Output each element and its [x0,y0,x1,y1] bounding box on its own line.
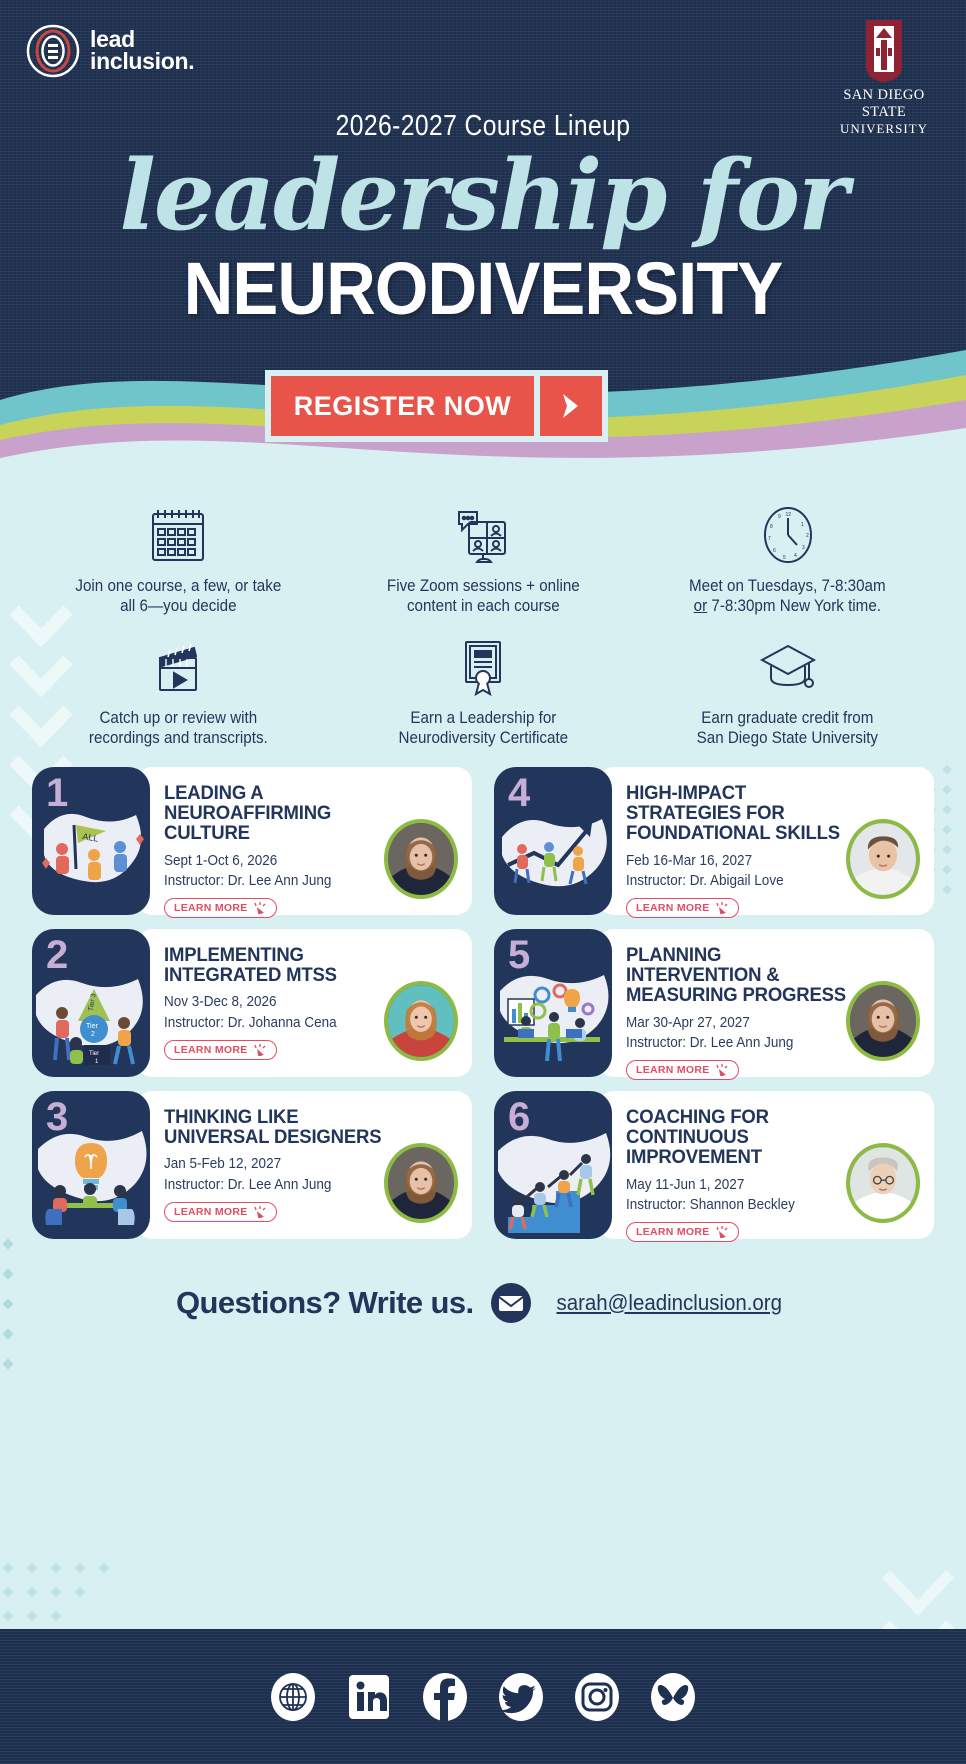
course-number: 6 [508,1095,530,1140]
feature-line2: recordings and transcripts. [49,728,307,748]
course-number: 5 [508,933,530,978]
hero-title: NEURODIVERSITY [34,252,932,326]
svg-text:1: 1 [801,522,804,528]
cursor-click-icon [253,902,267,914]
feature-text-6: Earn graduate credit from San Diego Stat… [659,708,917,748]
learn-more-button[interactable]: LEARN MORE [164,1202,277,1222]
cursor-click-icon [253,1044,267,1056]
learn-more-label: LEARN MORE [636,902,710,914]
instructor-avatar-johanna-cena [388,985,454,1057]
course-info: IMPLEMENTING INTEGRATED MTSS Nov 3-Dec 8… [136,929,472,1077]
brand-logo-text: lead inclusion. [90,29,194,73]
chevron-right-icon[interactable] [540,376,602,436]
cursor-click-icon [715,1064,729,1076]
course-number: 2 [46,933,68,978]
calendar-icon [38,504,319,566]
course-title: THINKING LIKE UNIVERSAL DESIGNERS [164,1107,397,1148]
instructor-avatar [384,1143,458,1223]
learn-more-button[interactable]: LEARN MORE [164,898,277,918]
feature-line2: content in each course [354,596,612,616]
course-title: COACHING FOR CONTINUOUS IMPROVEMENT [626,1107,859,1168]
register-cta: REGISTER NOW [265,370,608,442]
course-badge: 1 ALL [32,767,150,915]
feature-item-2: Five Zoom sessions + online content in e… [331,490,636,622]
svg-text:3: 3 [802,545,805,551]
course-info: PLANNING INTERVENTION & MEASURING PROGRE… [598,929,934,1077]
course-number: 3 [46,1095,68,1140]
course-card[interactable]: 2 Tier 3 Tier 2 Tier 1 IMPLEMENTING INTE… [32,929,472,1077]
svg-text:12: 12 [785,512,791,518]
envelope-icon [490,1282,532,1324]
instructor-avatar-lee-ann-jung [388,823,454,895]
cursor-click-icon [253,1206,267,1218]
instructor-avatar [846,819,920,899]
feature-line1: Join one course, a few, or take [49,576,307,596]
twitter-icon[interactable] [498,1672,544,1722]
clapperboard-play-icon [38,636,319,698]
course-title: IMPLEMENTING INTEGRATED MTSS [164,945,397,986]
feature-line2: Neurodiversity Certificate [354,728,612,748]
instructor-avatar [846,1143,920,1223]
features-section: Join one course, a few, or take all 6—yo… [0,470,966,761]
hero-script-line: leadership for [0,148,966,244]
course-badge: 5 [494,929,612,1077]
course-title: PLANNING INTERVENTION & MEASURING PROGRE… [626,945,859,1006]
video-conference-icon [343,504,624,566]
svg-text:4: 4 [794,553,797,559]
course-cards-grid: 1 ALL LEADING A NEUROAFFIRMING CULTURE S… [0,761,966,1239]
globe-website-icon[interactable] [270,1672,316,1722]
course-card[interactable]: 5 PLANNING INTERVENTION & [494,929,934,1077]
feature-line2: all 6—you decide [49,596,307,616]
instructor-avatar-abigail-love [850,823,916,895]
learn-more-label: LEARN MORE [174,902,248,914]
contact-section: Questions? Write us. sarah@leadinclusion… [0,1257,966,1349]
learn-more-button[interactable]: LEARN MORE [626,1060,739,1080]
instructor-avatar-lee-ann-jung [388,1147,454,1219]
features-row-1: Join one course, a few, or take all 6—yo… [26,490,940,622]
learn-more-button[interactable]: LEARN MORE [164,1040,277,1060]
instructor-avatar [384,981,458,1061]
course-card[interactable]: 4 HIGH-IMPACT STRATEGIES FOR FOUNDATIONA… [494,767,934,915]
sdsu-shield-icon [862,18,906,84]
bluesky-butterfly-icon[interactable] [650,1672,696,1722]
feature-item-1: Join one course, a few, or take all 6—yo… [26,490,331,622]
feature-line1: Earn a Leadership for [354,708,612,728]
clock-icon: 1212 345 6789 [647,504,928,566]
social-footer [0,1629,966,1764]
feature-line1: Catch up or review with [49,708,307,728]
instructor-avatar-lee-ann-jung [850,985,916,1057]
feature-item-3: 1212 345 6789 Meet on Tuesdays, 7-8:30am… [635,490,940,622]
course-card[interactable]: 1 ALL LEADING A NEUROAFFIRMING CULTURE S… [32,767,472,915]
course-info: COACHING FOR CONTINUOUS IMPROVEMENT May … [598,1091,934,1239]
course-badge: 3 [32,1091,150,1239]
course-card[interactable]: 6 COACHING FOR CONTINUOUS IMPROVEMENT Ma… [494,1091,934,1239]
linkedin-icon[interactable] [346,1672,392,1722]
contact-email-link[interactable]: sarah@leadinclusion.org [556,1290,782,1316]
brand-logo-line2: inclusion. [90,51,194,73]
course-title: HIGH-IMPACT STRATEGIES FOR FOUNDATIONAL … [626,783,859,844]
feature-line1: Five Zoom sessions + online [354,576,612,596]
register-now-button[interactable]: REGISTER NOW [271,376,534,436]
feature-item-4: Catch up or review with recordings and t… [26,622,331,754]
feature-underline: or [694,597,707,615]
feature-line1: Meet on Tuesdays, 7-8:30am [659,576,917,596]
svg-text:8: 8 [770,524,773,530]
instructor-avatar [846,981,920,1061]
svg-text:5: 5 [783,555,786,561]
course-info: THINKING LIKE UNIVERSAL DESIGNERS Jan 5-… [136,1091,472,1239]
feature-item-6: Earn graduate credit from San Diego Stat… [635,622,940,754]
feature-text-2: Five Zoom sessions + online content in e… [354,576,612,616]
learn-more-label: LEARN MORE [636,1226,710,1238]
feature-line2: or 7-8:30pm New York time. [659,596,917,616]
lead-inclusion-logo-icon [26,24,80,78]
svg-text:9: 9 [778,514,781,520]
course-info: HIGH-IMPACT STRATEGIES FOR FOUNDATIONAL … [598,767,934,915]
feature-line2-rest: 7-8:30pm New York time. [708,597,882,615]
feature-line1: Earn graduate credit from [659,708,917,728]
cursor-click-icon [715,902,729,914]
course-badge: 2 Tier 3 Tier 2 Tier 1 [32,929,150,1077]
svg-text:6: 6 [773,548,776,554]
feature-item-5: Earn a Leadership for Neurodiversity Cer… [331,622,636,754]
course-badge: 4 [494,767,612,915]
instructor-avatar [384,819,458,899]
svg-text:7: 7 [768,536,771,542]
graduation-cap-icon [647,636,928,698]
feature-text-4: Catch up or review with recordings and t… [49,708,307,748]
svg-text:2: 2 [806,533,809,539]
hero-banner: lead inclusion. SAN DIEGO STATE UNIVERSI… [0,0,966,470]
course-title: LEADING A NEUROAFFIRMING CULTURE [164,783,397,844]
learn-more-label: LEARN MORE [174,1044,248,1056]
course-number: 1 [46,771,68,816]
feature-text-1: Join one course, a few, or take all 6—yo… [49,576,307,616]
course-number: 4 [508,771,530,816]
certificate-icon [343,636,624,698]
svg-text:2: 2 [91,1031,95,1038]
instructor-avatar-shannon-beckley [850,1147,916,1219]
facebook-icon[interactable] [422,1672,468,1722]
instagram-icon[interactable] [574,1672,620,1722]
cursor-click-icon [715,1226,729,1238]
learn-more-label: LEARN MORE [636,1064,710,1076]
feature-line2: San Diego State University [659,728,917,748]
course-card[interactable]: 3 THINKING LIKE UNIVERSAL DESIGNERS Jan … [32,1091,472,1239]
svg-text:Tier: Tier [89,1051,99,1057]
svg-text:Tier: Tier [86,1023,98,1030]
feature-text-5: Earn a Leadership for Neurodiversity Cer… [354,708,612,748]
feature-text-3: Meet on Tuesdays, 7-8:30am or 7-8:30pm N… [659,576,917,616]
course-badge: 6 [494,1091,612,1239]
learn-more-button[interactable]: LEARN MORE [626,898,739,918]
brand-logo[interactable]: lead inclusion. [26,24,194,78]
features-row-2: Catch up or review with recordings and t… [26,622,940,754]
contact-heading: Questions? Write us. [176,1285,473,1321]
learn-more-label: LEARN MORE [174,1206,248,1218]
learn-more-button[interactable]: LEARN MORE [626,1222,739,1242]
course-info: LEADING A NEUROAFFIRMING CULTURE Sept 1-… [136,767,472,915]
